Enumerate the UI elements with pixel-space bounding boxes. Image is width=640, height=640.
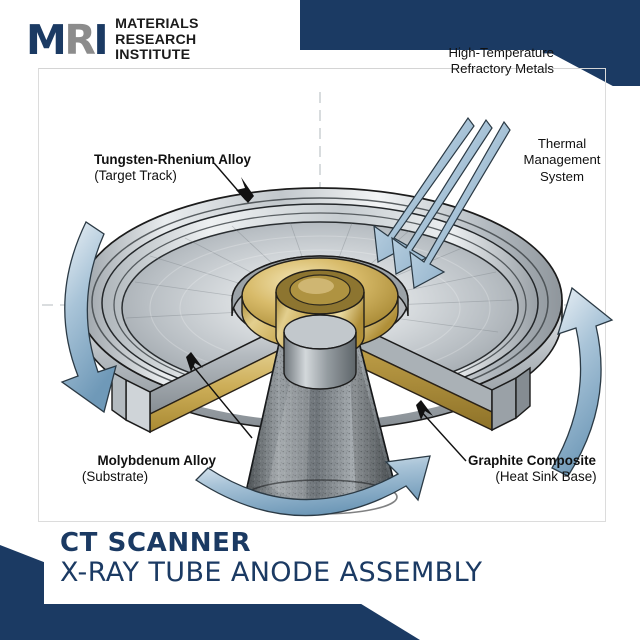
topic-line-2: Refractory Metals bbox=[448, 61, 554, 77]
callout-molybdenum: Molybdenum Alloy (Substrate) bbox=[26, 453, 216, 486]
callout-topic: High-Temperature Refractory Metals bbox=[448, 45, 554, 78]
thermal-line-1: Thermal bbox=[502, 136, 622, 152]
molybdenum-subtitle: (Substrate) bbox=[26, 469, 216, 485]
title-line-1: CT SCANNER bbox=[60, 529, 482, 557]
graphite-title: Graphite Composite bbox=[468, 453, 596, 468]
topic-line-1: High-Temperature bbox=[448, 45, 554, 61]
callout-tungsten-rhenium: Tungsten-Rhenium Alloy (Target Track) bbox=[36, 152, 251, 185]
graphite-subtitle: (Heat Sink Base) bbox=[468, 469, 638, 485]
infographic-canvas: MRI MATERIALS RESEARCH INSTITUTE bbox=[0, 0, 640, 640]
thermal-line-3: System bbox=[502, 169, 622, 185]
molybdenum-title: Molybdenum Alloy bbox=[97, 453, 216, 468]
tungsten-title: Tungsten-Rhenium Alloy bbox=[94, 152, 251, 167]
thermal-line-2: Management bbox=[502, 152, 622, 168]
footer-title: CT SCANNER X-RAY TUBE ANODE ASSEMBLY bbox=[60, 529, 482, 588]
callout-thermal-management: Thermal Management System bbox=[502, 136, 622, 185]
tungsten-subtitle: (Target Track) bbox=[36, 168, 251, 184]
title-line-2: X-RAY TUBE ANODE ASSEMBLY bbox=[60, 557, 482, 588]
callout-graphite: Graphite Composite (Heat Sink Base) bbox=[468, 453, 638, 486]
